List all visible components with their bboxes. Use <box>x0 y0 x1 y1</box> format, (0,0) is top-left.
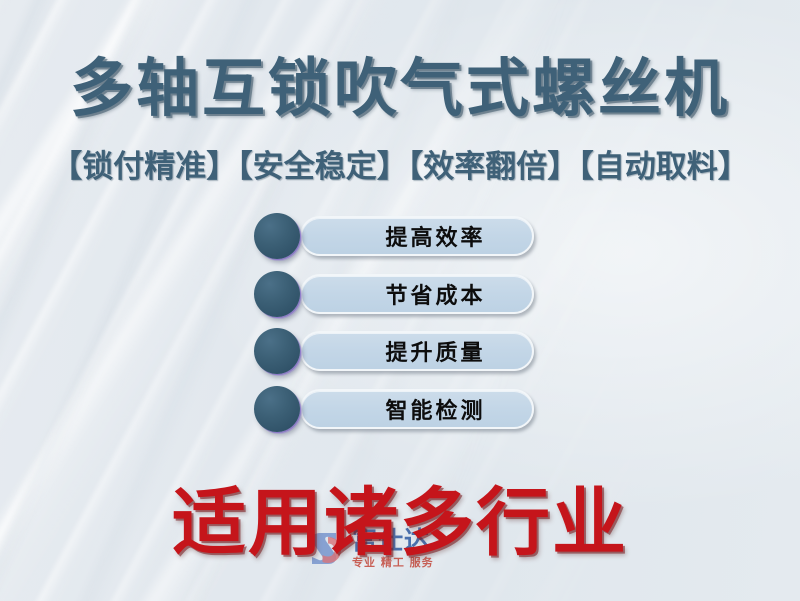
feature-item[interactable]: 提高效率 <box>254 212 544 258</box>
filled-circle-icon <box>254 213 300 259</box>
feature-pill[interactable]: 智能检测 <box>300 389 534 429</box>
banner-headline: 多轴互锁吹气式螺丝机 <box>0 57 800 121</box>
feature-label: 提高效率 <box>348 220 485 252</box>
banner-slogan: 适用诸多行业 <box>0 463 800 570</box>
promo-banner: 多轴互锁吹气式螺丝机 【锁付精准】【安全稳定】【效率翻倍】【自动取料】 提高效率… <box>0 0 800 601</box>
feature-item[interactable]: 提升质量 <box>254 327 544 373</box>
feature-list: 提高效率 节省成本 提升质量 智能检测 <box>254 212 544 442</box>
filled-circle-icon <box>254 271 300 317</box>
feature-item[interactable]: 智能检测 <box>254 385 544 431</box>
feature-pill[interactable]: 提高效率 <box>300 216 534 256</box>
feature-label: 提升质量 <box>348 335 485 367</box>
feature-pill[interactable]: 提升质量 <box>300 331 534 371</box>
banner-subheadline: 【锁付精准】【安全稳定】【效率翻倍】【自动取料】 <box>0 141 800 186</box>
feature-label: 节省成本 <box>348 278 485 310</box>
feature-pill[interactable]: 节省成本 <box>300 274 534 314</box>
filled-circle-icon <box>254 328 300 374</box>
feature-item[interactable]: 节省成本 <box>254 270 544 316</box>
filled-circle-icon <box>254 386 300 432</box>
feature-label: 智能检测 <box>348 393 485 425</box>
